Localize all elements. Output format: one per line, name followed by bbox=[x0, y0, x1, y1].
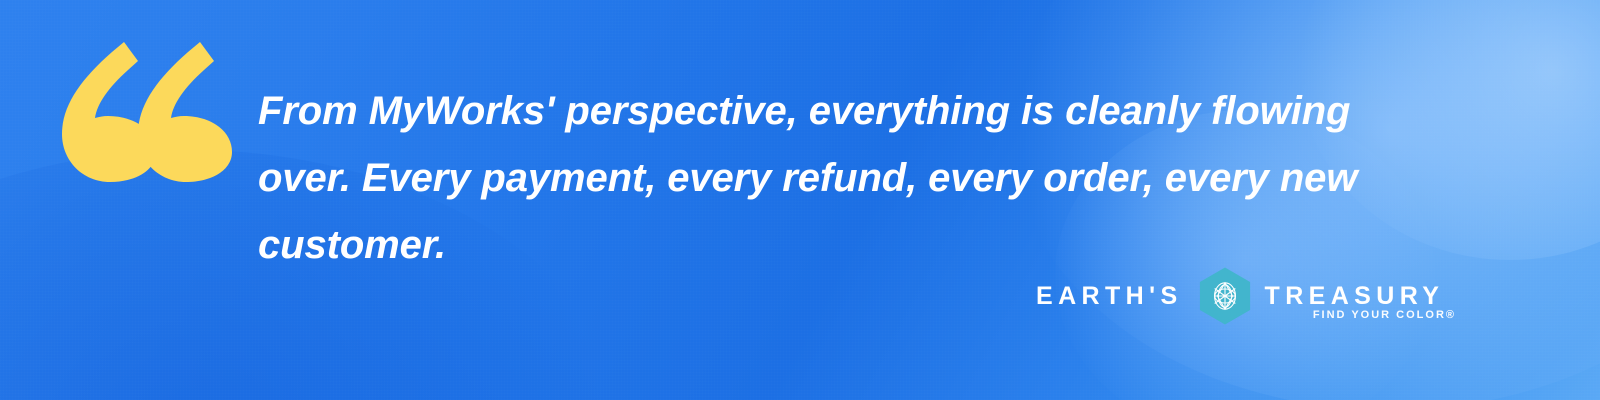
testimonial-quote-text: From MyWorks' perspective, everything is… bbox=[258, 78, 1428, 279]
brand-word-left: EARTH'S bbox=[1036, 284, 1183, 309]
brand-lockup: EARTH'S TREASURY bbox=[1036, 272, 1456, 334]
testimonial-card: From MyWorks' perspective, everything is… bbox=[0, 0, 1600, 400]
hexagon-gemstone-icon bbox=[1199, 267, 1251, 325]
brand-word-right: TREASURY bbox=[1265, 284, 1445, 309]
double-quote-open-icon bbox=[62, 42, 232, 182]
brand-tagline: FIND YOUR COLOR® bbox=[1313, 310, 1456, 321]
